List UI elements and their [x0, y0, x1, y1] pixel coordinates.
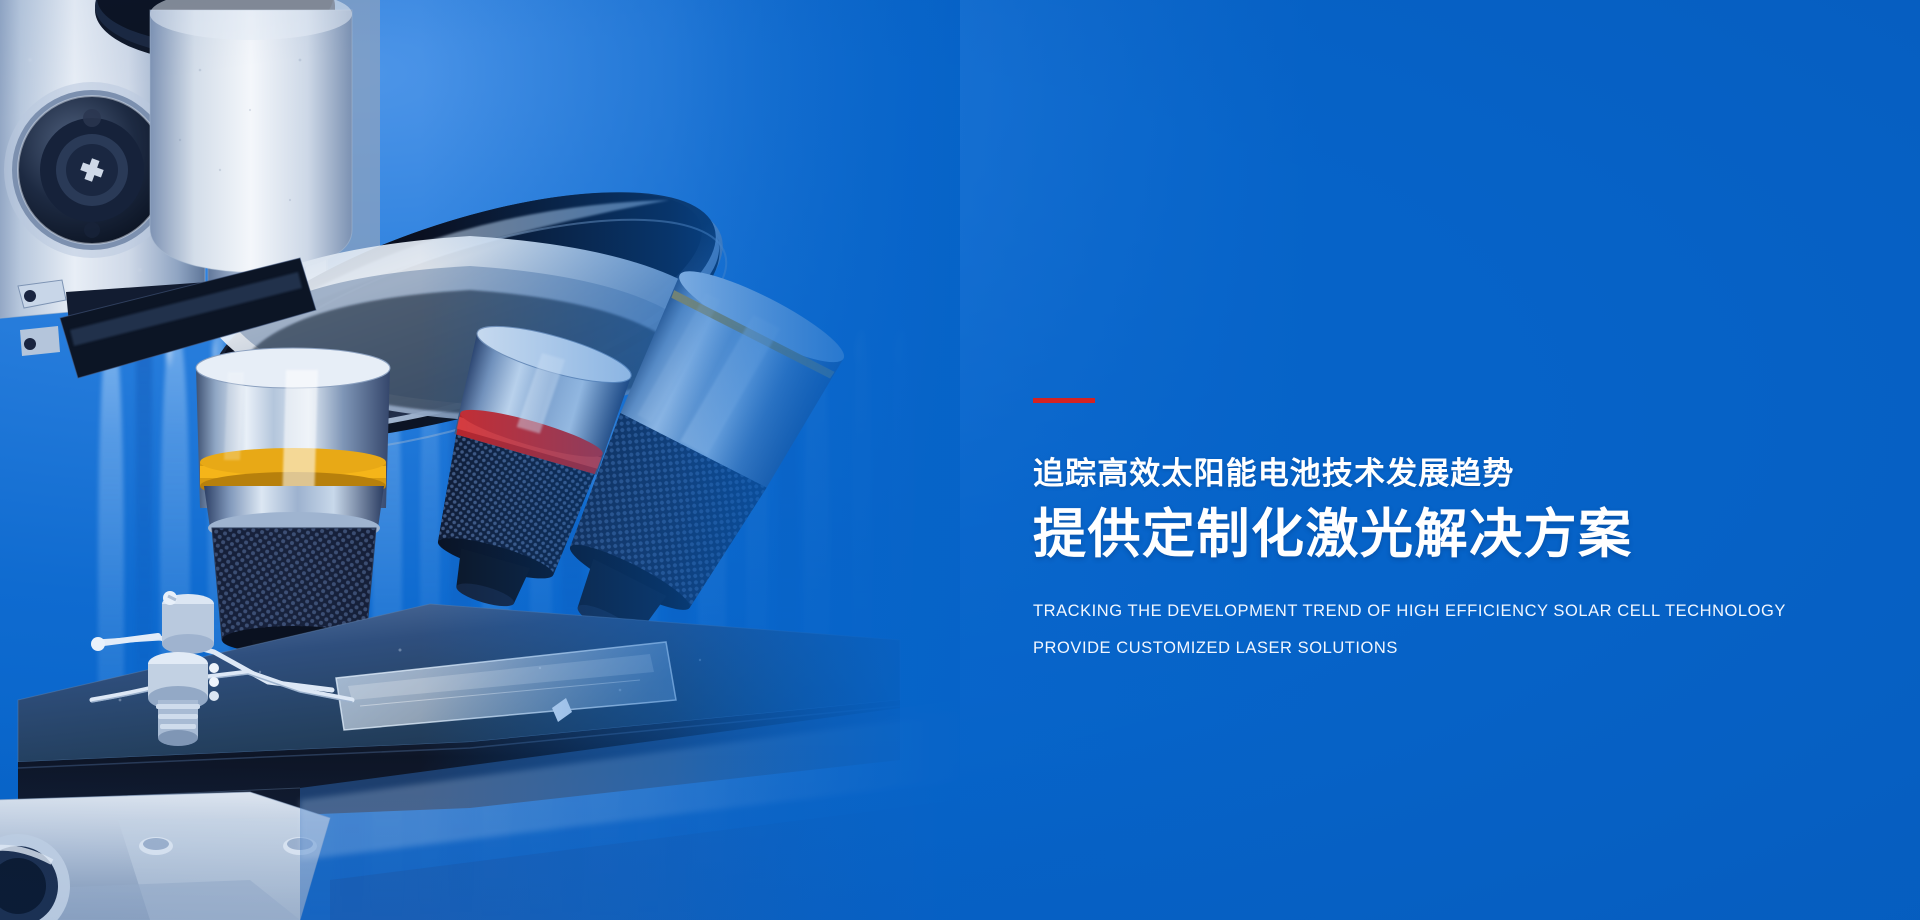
accent-rule	[1033, 398, 1095, 403]
hero-copy: 追踪高效太阳能电池技术发展趋势 提供定制化激光解决方案 TRACKING THE…	[1033, 398, 1863, 656]
headline-subtitle: 追踪高效太阳能电池技术发展趋势	[1033, 458, 1863, 489]
headline-title: 提供定制化激光解决方案	[1033, 508, 1863, 561]
english-subtitle-line-2: PROVIDE CUSTOMIZED LASER SOLUTIONS	[1033, 640, 1863, 657]
english-subtitle-block: TRACKING THE DEVELOPMENT TREND OF HIGH E…	[1033, 603, 1863, 656]
hero-banner: 追踪高效太阳能电池技术发展趋势 提供定制化激光解决方案 TRACKING THE…	[0, 0, 1920, 920]
english-subtitle-line-1: TRACKING THE DEVELOPMENT TREND OF HIGH E…	[1033, 603, 1863, 620]
